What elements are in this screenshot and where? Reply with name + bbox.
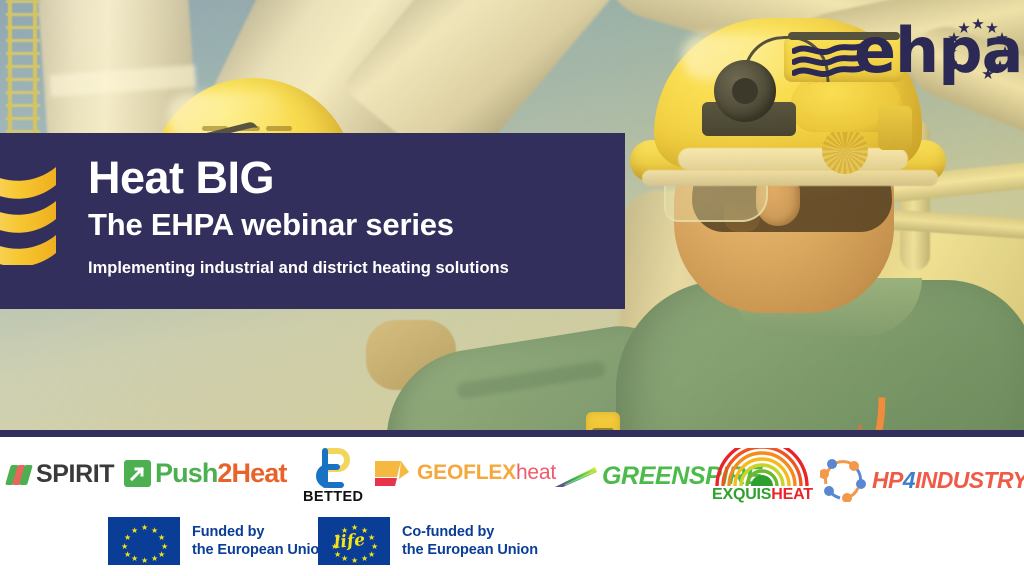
section-divider: [0, 430, 1024, 437]
title-banner: Heat BIG The EHPA webinar series Impleme…: [0, 133, 625, 309]
exquisheat-icon: [714, 448, 810, 486]
ehpa-wave-mark: [0, 155, 60, 265]
betted-icon: [311, 448, 355, 488]
eu-flag-life-icon: ★ ★ ★ ★ ★ ★ ★ ★ ★ ★ ★ ★ life: [318, 517, 390, 565]
life-programme-wordmark: life: [333, 529, 375, 553]
exquis-label: EXQUIS: [712, 486, 771, 503]
partner-logo-exquisheat[interactable]: EXQUISHEAT: [712, 448, 813, 504]
page-title: Heat BIG: [88, 153, 274, 202]
slide-root: ehpa: [0, 0, 1024, 576]
eu-cofunded-label: Co-funded by the European Union: [402, 523, 538, 559]
hero-photo: ehpa: [0, 0, 1024, 430]
hp4industry-label-group: HP4INDUSTRY: [872, 467, 1024, 494]
eu-badge-cofunded[interactable]: ★ ★ ★ ★ ★ ★ ★ ★ ★ ★ ★ ★ life Co-funded b…: [318, 517, 538, 565]
ehpa-logo[interactable]: ehpa: [792, 18, 1002, 96]
industry-label: INDUSTRY: [915, 467, 1024, 493]
eu-cofunded-line1: Co-funded by: [402, 523, 538, 541]
partner-logo-spirit[interactable]: SPIRIT: [8, 460, 114, 489]
partner-logo-push2heat[interactable]: Push2Heat: [124, 458, 286, 489]
partner-logo-geoflexheat[interactable]: GEOFLEXheat: [375, 460, 556, 486]
push2heat-label-green: Push: [155, 458, 217, 489]
hp-label: HP: [872, 467, 903, 493]
geoflex-label: GEOFLEX: [417, 461, 516, 485]
eu-stars-icon: [946, 16, 1010, 80]
spirit-label: SPIRIT: [36, 460, 114, 489]
eu-cofunded-line2: the European Union: [402, 541, 538, 559]
eu-funded-line1: Funded by: [192, 523, 328, 541]
spirit-icon: [8, 464, 34, 486]
eu-funded-label: Funded by the European Union: [192, 523, 328, 559]
eu-funding-row: ★ ★ ★ ★ ★ ★ ★ ★ ★ ★ ★ ★ Funded by the Eu…: [0, 515, 1024, 571]
geoflex-heat-label: heat: [516, 461, 556, 485]
eu-badge-funded[interactable]: ★ ★ ★ ★ ★ ★ ★ ★ ★ ★ ★ ★ Funded by the Eu…: [108, 517, 328, 565]
exquisheat-label-group: EXQUISHEAT: [712, 486, 813, 504]
page-tagline: Implementing industrial and district hea…: [88, 258, 509, 278]
exquis-heat-label: HEAT: [771, 486, 813, 503]
partner-logo-row: SPIRIT Push2Heat BETTED: [0, 446, 1024, 508]
footer: SPIRIT Push2Heat BETTED: [0, 437, 1024, 576]
eu-funded-line2: the European Union: [192, 541, 328, 559]
hp4industry-icon: [820, 458, 866, 502]
greenspire-icon: [555, 466, 597, 488]
betted-label: BETTED: [303, 489, 363, 505]
geoflexheat-icon: [375, 460, 411, 486]
eu-flag-icon: ★ ★ ★ ★ ★ ★ ★ ★ ★ ★ ★ ★: [108, 517, 180, 565]
partner-logo-hp4industry[interactable]: HP4INDUSTRY: [820, 458, 1024, 502]
push2heat-icon: [124, 460, 151, 487]
partner-logo-betted[interactable]: BETTED: [303, 448, 363, 505]
page-subtitle: The EHPA webinar series: [88, 207, 454, 242]
push2heat-label-orange: 2Heat: [217, 458, 286, 489]
hp4-number: 4: [903, 467, 915, 493]
